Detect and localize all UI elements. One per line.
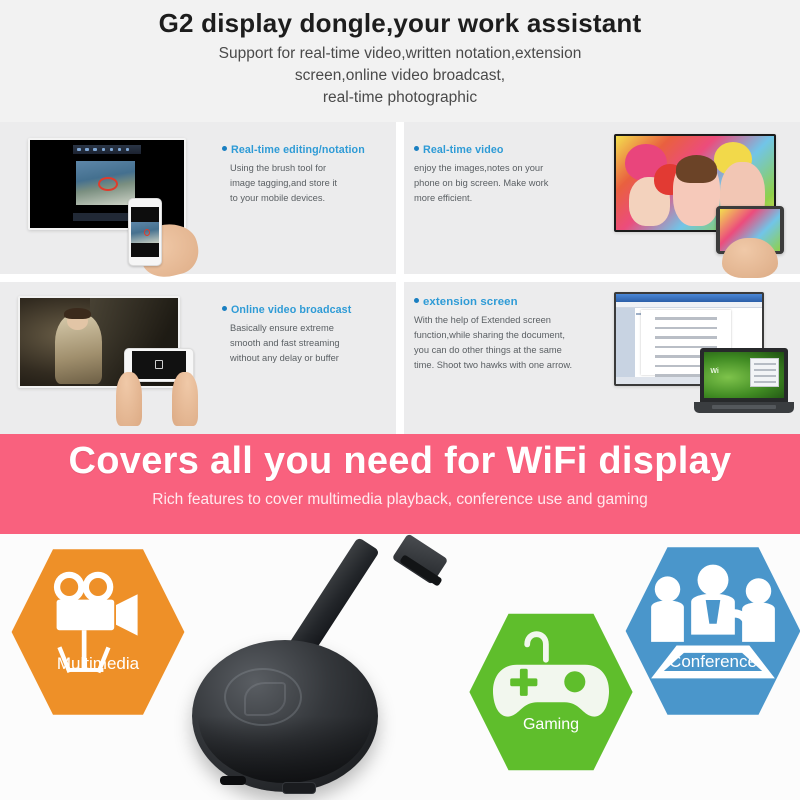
wifi-display-dongle [178,536,478,798]
header-section: G2 display dongle,your work assistant Su… [0,0,800,122]
feature-body-line-2: phone on big screen. Make work [414,176,600,191]
bullet-dot-icon [414,146,419,151]
feature-text-block: Real-time editing/notation Using the bru… [222,144,390,206]
bullet-dot-icon [222,306,227,311]
use-case-section: Multimedia Gaming [0,534,800,800]
hexagon-label: Multimedia [8,654,188,674]
bullet-dot-icon [222,146,227,151]
document-sidebar [616,308,635,376]
promo-banner: Covers all you need for WiFi display Ric… [0,434,800,534]
hand-right [172,372,198,426]
hand-left [116,372,142,426]
header-subtitle-line-3: real-time photographic [0,87,800,109]
hexagon-gaming[interactable]: Gaming [466,604,636,780]
feature-heading: Real-time video [414,144,600,156]
laptop-screen: Wi [704,352,784,398]
hexagon-label: Gaming [466,716,636,734]
dongle-micro-usb-port [220,776,246,785]
hexagon-label: Conference [622,652,800,672]
feature-body: Basically ensure extreme smooth and fast… [222,321,390,366]
annotation-circle [98,177,118,191]
monitor-document-with-laptop: Wi [600,286,800,428]
feature-body-line-2: function,while sharing the document, [414,328,600,343]
feature-heading-label: extension screen [423,296,518,308]
feature-body-line-3: without any delay or buffer [230,351,390,366]
feature-heading-label: Online video broadcast [231,304,351,316]
feature-body: enjoy the images,notes on your phone on … [414,161,600,206]
dongle-reset-button[interactable] [282,782,316,794]
feature-panel-online-video-broadcast: Online video broadcast Basically ensure … [0,282,396,434]
feature-body-line-1: Basically ensure extreme [230,321,390,336]
banner-subtitle: Rich features to cover multimedia playba… [0,483,800,509]
laptop-lid: Wi [700,348,788,402]
laptop-dialog-window [750,358,779,387]
hexagon-shape-conference [622,540,800,722]
feature-body-line-3: to your mobile devices. [230,191,390,206]
tv-movie-scene-with-phone [4,286,216,426]
editing-toolbar [73,145,141,154]
feature-panel-real-time-video: Real-time video enjoy the images,notes o… [404,122,800,274]
feature-panel-extension-screen: extension screen With the help of Extend… [404,282,800,434]
cast-icon [155,360,164,369]
laptop-keyboard [712,405,776,409]
feature-body-line-1: With the help of Extended screen [414,313,600,328]
feature-text-block: extension screen With the help of Extend… [414,296,600,373]
feature-body: With the help of Extended screen functio… [414,313,600,373]
header-subtitle: Support for real-time video,written nota… [0,39,800,109]
hexagon-multimedia[interactable]: Multimedia [8,542,188,722]
feature-body: Using the brush tool for image tagging,a… [222,161,390,206]
laptop-os-label: Wi [710,368,719,375]
hexagon-shape-multimedia [8,542,188,722]
phone-screen [131,207,159,257]
hands-holding-tablet [722,238,778,278]
feature-body-line-4: time. Shoot two hawks with one arrow. [414,358,600,373]
phone-annotation-circle [144,229,150,236]
feature-body-line-3: more efficient. [414,191,600,206]
header-subtitle-line-1: Support for real-time video,written nota… [0,43,800,65]
feature-heading-label: Real-time editing/notation [231,144,365,156]
page-title: G2 display dongle,your work assistant [0,0,800,39]
feature-body-line-2: image tagging,and store it [230,176,390,191]
product-infographic: G2 display dongle,your work assistant Su… [0,0,800,800]
feature-body-line-3: you can do other things at the same [414,343,600,358]
feature-text-block: Real-time video enjoy the images,notes o… [414,144,600,206]
feature-panel-real-time-editing: Real-time editing/notation Using the bru… [0,122,396,274]
bullet-dot-icon [414,298,419,303]
hexagon-conference[interactable]: Conference [622,540,800,722]
window-menubar [616,302,762,308]
feature-body-line-1: enjoy the images,notes on your [414,161,600,176]
dongle-embossed-logo-icon [224,668,302,726]
feature-body-line-1: Using the brush tool for [230,161,390,176]
feature-heading: Real-time editing/notation [222,144,390,156]
feature-heading: Online video broadcast [222,304,390,316]
feature-grid: Real-time editing/notation Using the bru… [0,122,800,434]
tv-photo-editing-with-phone [10,128,215,273]
character-hair [64,308,91,319]
tv-birthday-photo-with-tablet: Happy Birthday [604,126,800,274]
tv-screen-editing [28,138,186,230]
phone-device [128,198,162,266]
feature-text-block: Online video broadcast Basically ensure … [222,304,390,366]
feature-heading: extension screen [414,296,600,308]
window-titlebar [616,294,762,302]
laptop-device: Wi [694,348,794,420]
child-hair [676,155,717,183]
feature-body-line-2: smooth and fast streaming [230,336,390,351]
banner-title: Covers all you need for WiFi display [0,434,800,483]
header-subtitle-line-2: screen,online video broadcast, [0,65,800,87]
hexagon-shape-gaming [466,604,636,780]
feature-heading-label: Real-time video [423,144,504,156]
